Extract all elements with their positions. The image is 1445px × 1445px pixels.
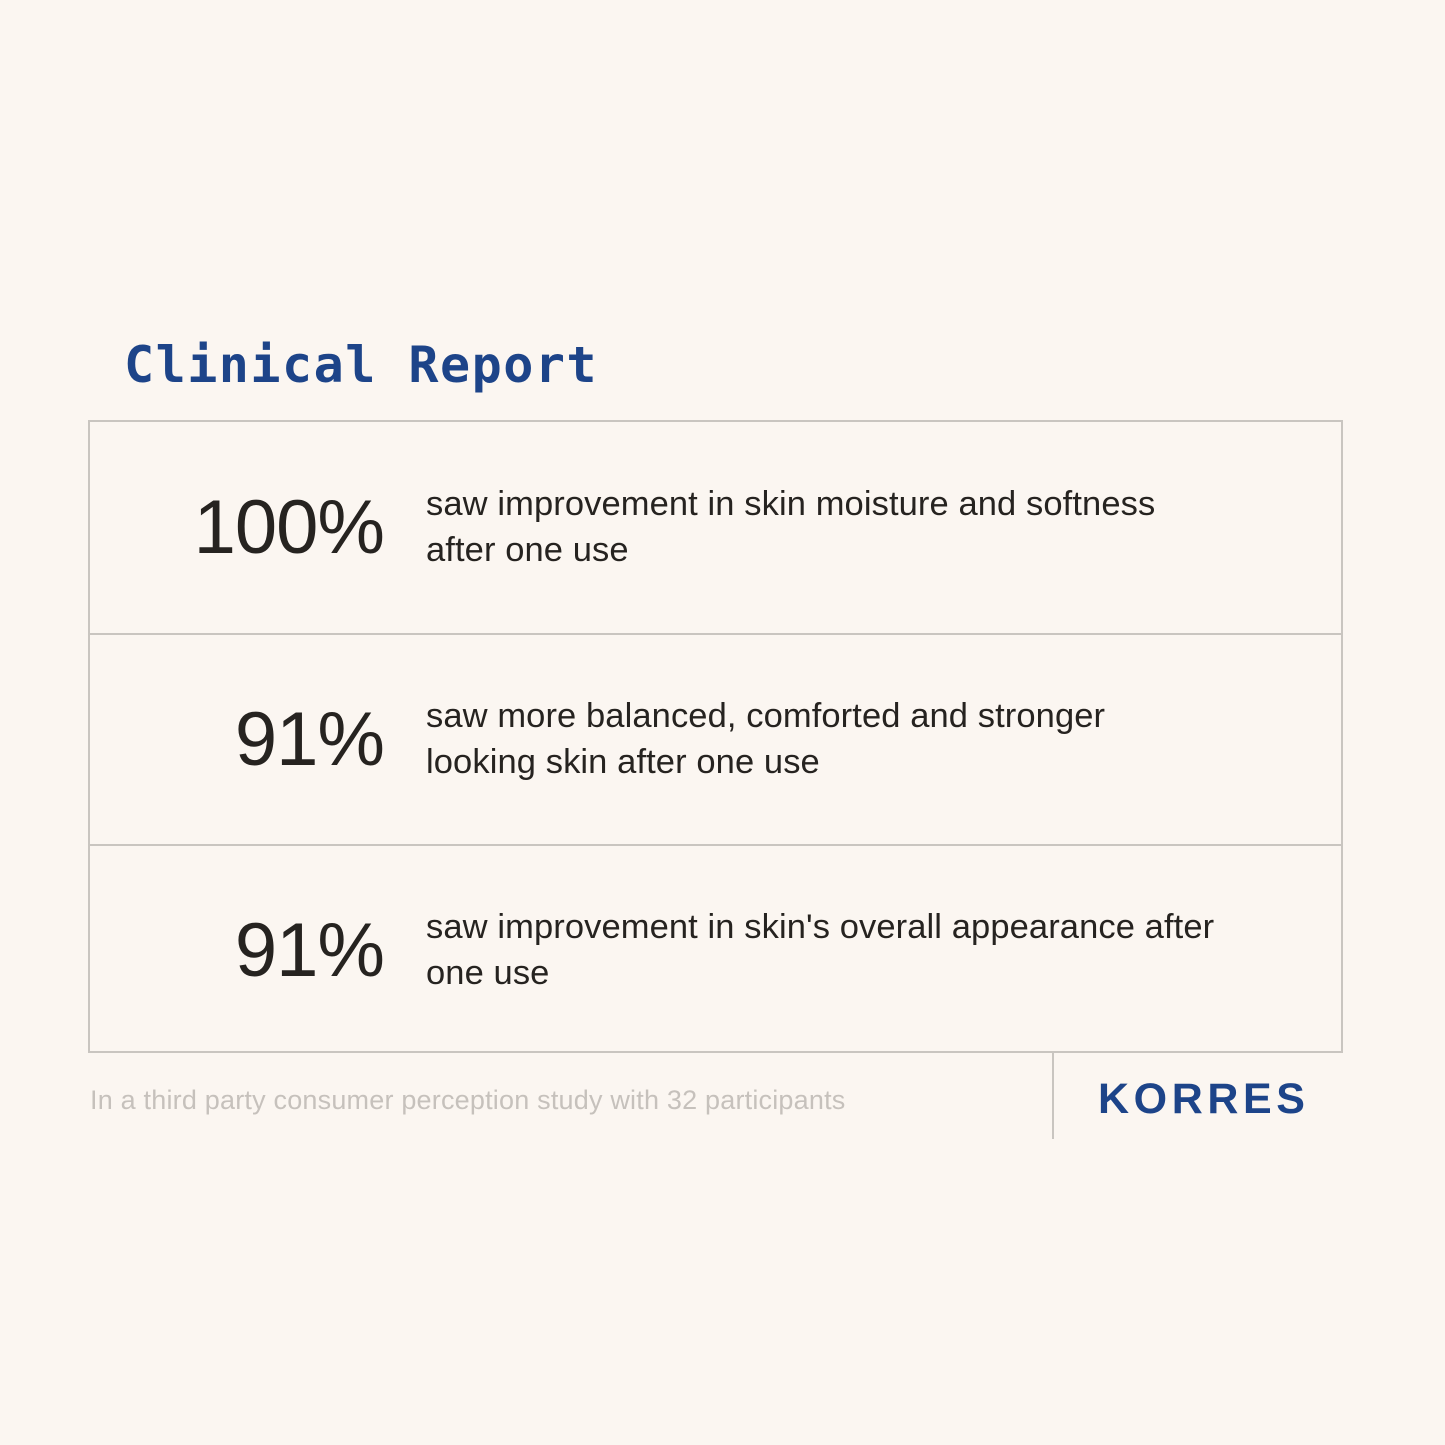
clinical-report-card: Clinical Report 100% saw improvement in … (0, 0, 1445, 1445)
stat-description: saw more balanced, comforted and stronge… (426, 694, 1216, 786)
page-title: Clinical Report (124, 340, 598, 390)
stat-description: saw improvement in skin's overall appear… (426, 905, 1216, 997)
stat-value: 100% (90, 490, 384, 566)
study-disclaimer: In a third party consumer perception stu… (90, 1085, 845, 1116)
table-row: 100% saw improvement in skin moisture an… (90, 422, 1341, 633)
table-row: 91% saw improvement in skin's overall ap… (90, 844, 1341, 1055)
table-row: 91% saw more balanced, comforted and str… (90, 633, 1341, 844)
brand-logo: KORRES (1098, 1078, 1310, 1121)
stats-table: 100% saw improvement in skin moisture an… (88, 420, 1343, 1053)
stat-value: 91% (90, 913, 384, 989)
stat-value: 91% (90, 702, 384, 778)
stat-description: saw improvement in skin moisture and sof… (426, 482, 1216, 574)
footer-divider (1052, 1053, 1054, 1139)
